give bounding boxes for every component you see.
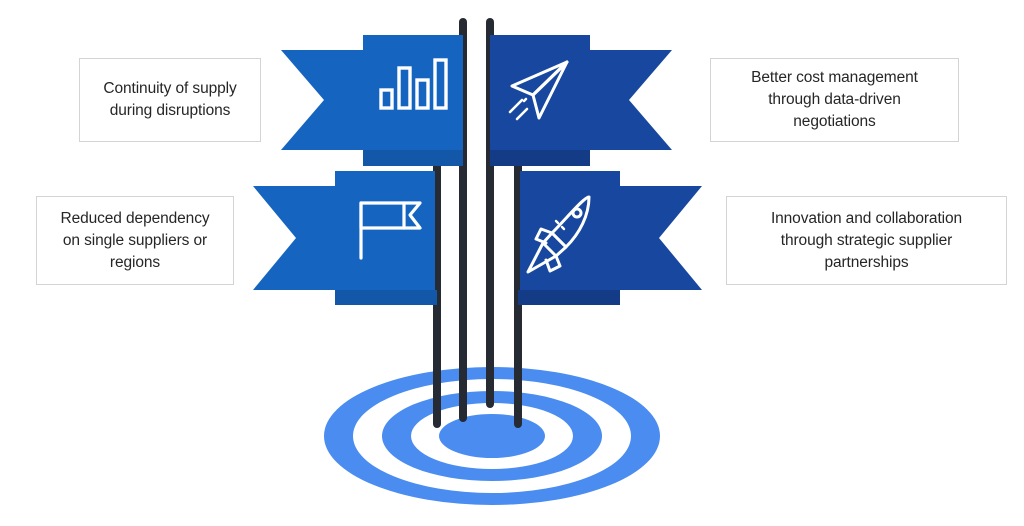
banner-bottom-left-shadow <box>335 290 437 305</box>
banner-top-left-tail <box>281 50 363 150</box>
callout-innovation-line1: Innovation and collaboration <box>771 208 962 230</box>
banner-bottom-left-tail <box>253 186 335 290</box>
callout-continuity-line2: during disruptions <box>103 100 236 122</box>
banner-bottom-right-panel <box>520 171 620 290</box>
banner-top-right-shadow <box>490 150 590 166</box>
callout-cost-management-line2: through data-driven <box>751 89 918 111</box>
callout-cost-management: Better cost management through data-driv… <box>710 58 959 142</box>
callout-innovation: Innovation and collaboration through str… <box>726 196 1007 285</box>
banner-top-right[interactable] <box>490 35 672 166</box>
callout-continuity-line1: Continuity of supply <box>103 78 236 100</box>
callout-reduced-dependency-line2: on single suppliers or <box>60 230 209 252</box>
diagram-canvas: Continuity of supply during disruptions … <box>0 0 1024 526</box>
target-ring-inner <box>439 414 545 458</box>
callout-cost-management-line3: negotiations <box>751 111 918 133</box>
callout-continuity: Continuity of supply during disruptions <box>79 58 261 142</box>
banner-bottom-left-panel <box>335 171 435 290</box>
banner-bottom-right[interactable] <box>518 171 702 305</box>
callout-reduced-dependency-line3: regions <box>60 252 209 274</box>
banner-top-left[interactable] <box>281 35 463 166</box>
banner-top-left-shadow <box>363 150 463 166</box>
callout-cost-management-line1: Better cost management <box>751 67 918 89</box>
callout-innovation-line2: through strategic supplier <box>771 230 962 252</box>
banner-top-right-panel <box>490 35 590 150</box>
banner-bottom-left[interactable] <box>253 171 437 305</box>
banner-bottom-right-tail <box>620 186 702 290</box>
banner-bottom-right-shadow <box>518 290 620 305</box>
callout-innovation-line3: partnerships <box>771 252 962 274</box>
banner-top-left-panel <box>363 35 463 150</box>
callout-reduced-dependency-line1: Reduced dependency <box>60 208 209 230</box>
banner-top-right-tail <box>590 50 672 150</box>
callout-reduced-dependency: Reduced dependency on single suppliers o… <box>36 196 234 285</box>
